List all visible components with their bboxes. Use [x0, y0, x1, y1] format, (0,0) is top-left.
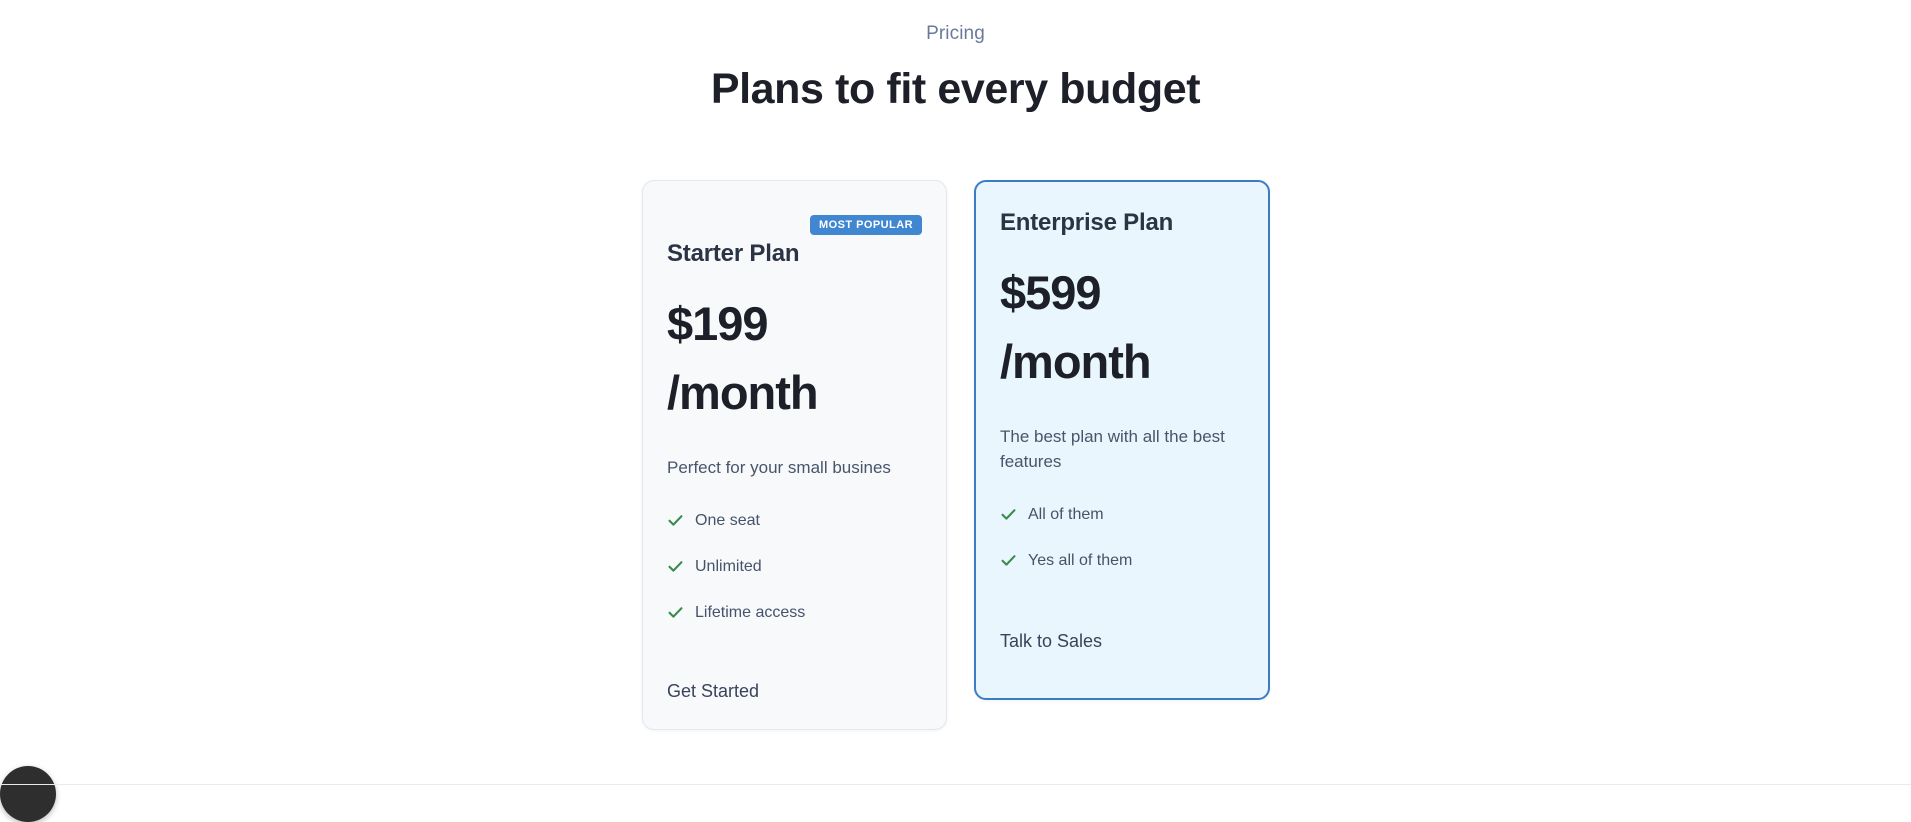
- check-icon: [667, 604, 684, 621]
- list-item: Lifetime access: [667, 602, 922, 623]
- feature-label: One seat: [695, 510, 760, 531]
- page-title: Plans to fit every budget: [0, 63, 1911, 115]
- list-item: One seat: [667, 510, 922, 531]
- plan-description-starter: Perfect for your small busines: [667, 455, 917, 480]
- feature-label: Lifetime access: [695, 602, 805, 623]
- list-item: Unlimited: [667, 556, 922, 577]
- plan-description-enterprise: The best plan with all the best features: [1000, 424, 1244, 474]
- pricing-card-enterprise[interactable]: Enterprise Plan $599 /month The best pla…: [974, 180, 1270, 700]
- plan-name-enterprise: Enterprise Plan: [1000, 208, 1244, 238]
- get-started-button[interactable]: Get Started: [667, 679, 759, 703]
- plan-period-starter: /month: [667, 365, 922, 421]
- plan-name-starter: Starter Plan: [667, 239, 922, 269]
- check-icon: [1000, 506, 1017, 523]
- most-popular-badge: MOST POPULAR: [810, 215, 922, 235]
- feature-list-enterprise: All of them Yes all of them: [1000, 504, 1244, 571]
- plan-period-enterprise: /month: [1000, 334, 1244, 390]
- badge-row: MOST POPULAR: [667, 215, 922, 235]
- check-icon: [1000, 552, 1017, 569]
- pricing-eyebrow: Pricing: [0, 22, 1911, 46]
- chat-widget-button[interactable]: [0, 766, 56, 822]
- list-item: Yes all of them: [1000, 550, 1244, 571]
- pricing-plans-row: MOST POPULAR Starter Plan $199 /month Pe…: [642, 180, 1270, 730]
- feature-label: Yes all of them: [1028, 550, 1132, 571]
- feature-label: Unlimited: [695, 556, 762, 577]
- list-item: All of them: [1000, 504, 1244, 525]
- pricing-card-starter[interactable]: MOST POPULAR Starter Plan $199 /month Pe…: [642, 180, 947, 730]
- feature-list-starter: One seat Unlimited Lifetime access: [667, 510, 922, 623]
- talk-to-sales-button[interactable]: Talk to Sales: [1000, 629, 1102, 653]
- page-header: Pricing Plans to fit every budget: [0, 0, 1911, 115]
- feature-label: All of them: [1028, 504, 1104, 525]
- check-icon: [667, 558, 684, 575]
- plan-price-starter: $199: [667, 295, 922, 353]
- plan-price-enterprise: $599: [1000, 264, 1244, 322]
- check-icon: [667, 512, 684, 529]
